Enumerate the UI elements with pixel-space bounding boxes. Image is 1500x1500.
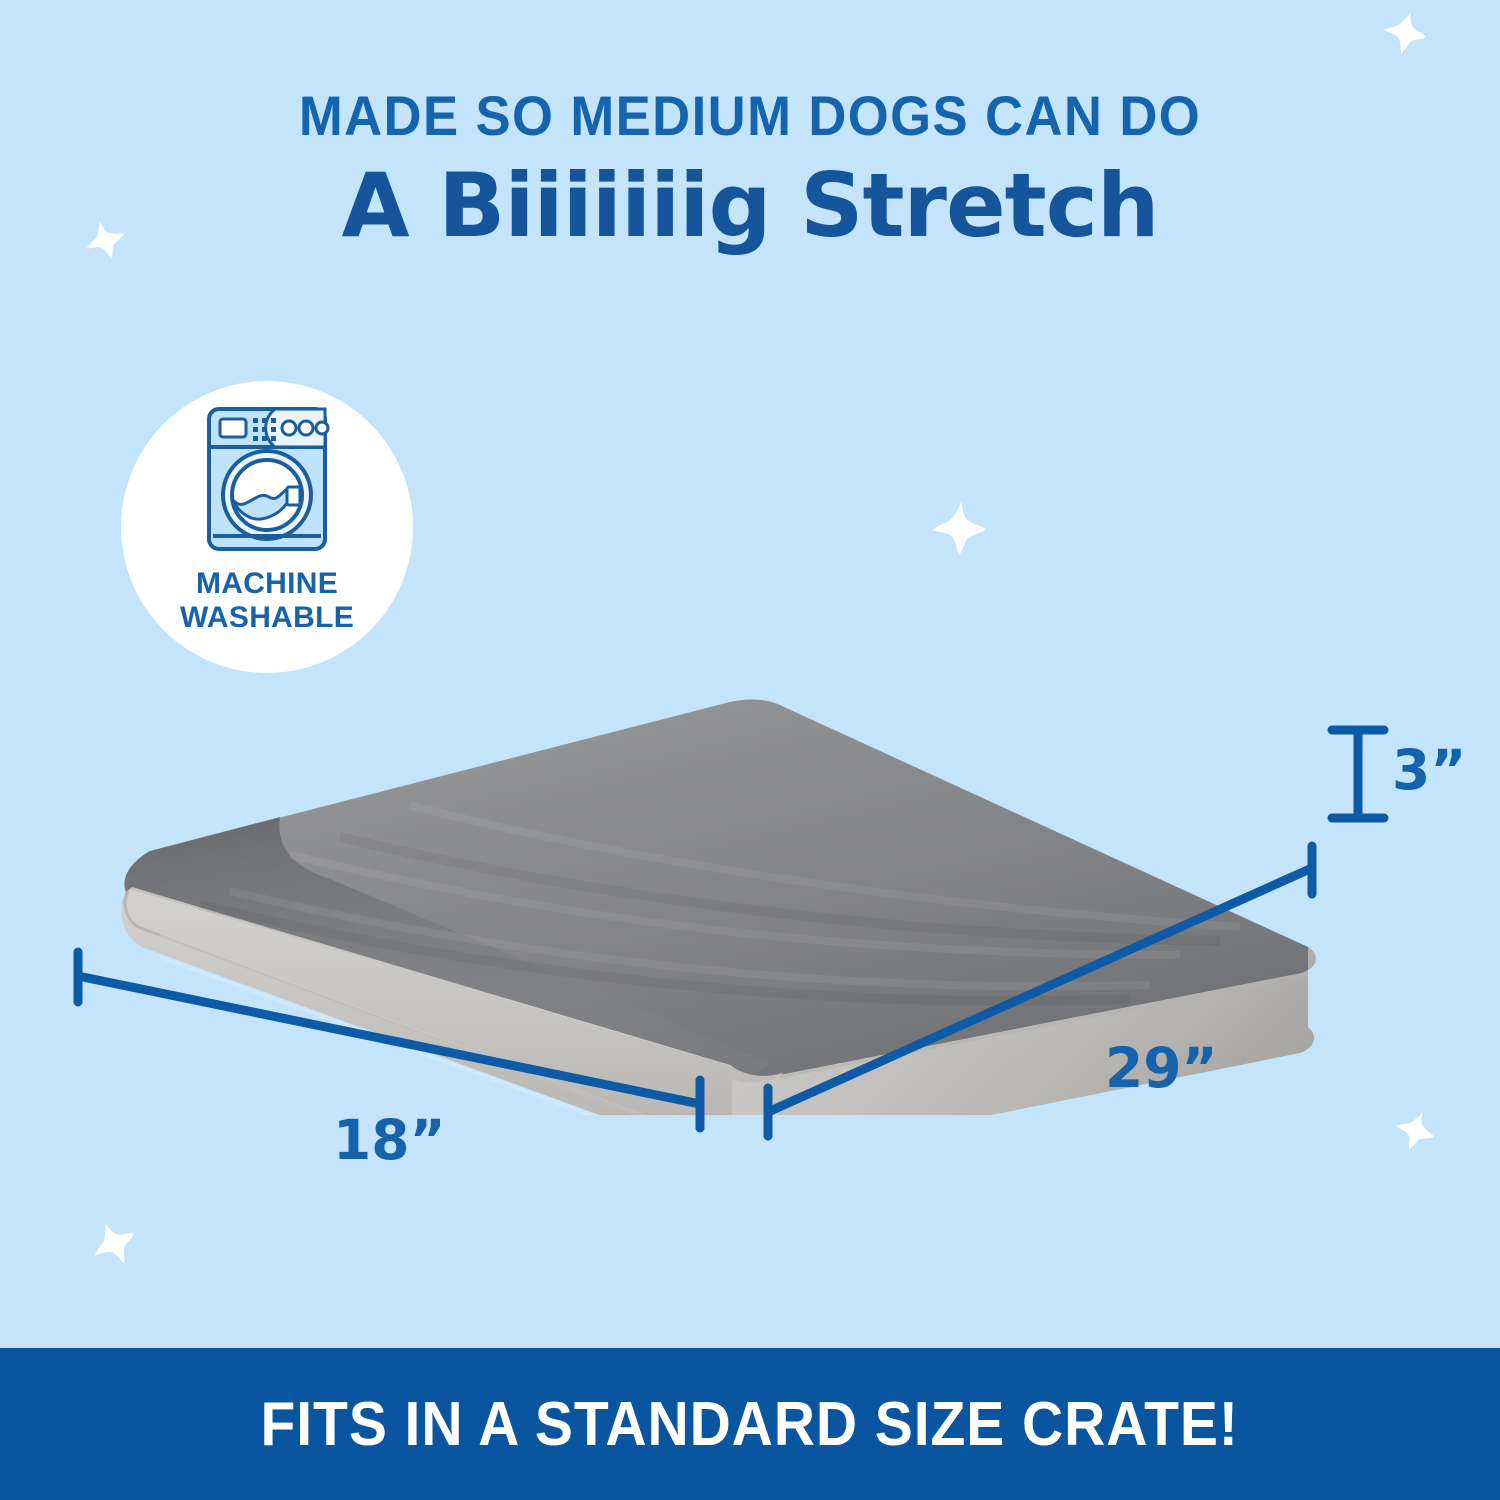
machine-washable-badge: MACHINE WASHABLE [121,381,413,673]
headline-block: MADE SO MEDIUM DOGS CAN DO A Biiiiiiig S… [0,88,1500,252]
star-decoration [1373,1,1436,64]
star-decoration [924,494,994,564]
bottom-banner: FITS IN A STANDARD SIZE CRATE! [0,1348,1500,1500]
banner-text: FITS IN A STANDARD SIZE CRATE! [261,1389,1239,1460]
page-title: A Biiiiiiig Stretch [0,160,1500,252]
infographic-canvas: MADE SO MEDIUM DOGS CAN DO A Biiiiiiig S… [0,0,1500,1500]
star-decoration [1384,1100,1445,1161]
badge-line-1: MACHINE [180,567,354,601]
badge-line-2: WASHABLE [180,601,354,635]
dimension-label-3: 3” [1392,738,1466,802]
headline-eyebrow: MADE SO MEDIUM DOGS CAN DO [45,88,1455,144]
dimension-label-29: 29” [1105,1036,1218,1100]
washing-machine-icon [201,403,333,555]
star-decoration [81,1211,148,1278]
machine-washable-label: MACHINE WASHABLE [180,567,354,635]
dimension-label-18: 18” [333,1108,446,1172]
